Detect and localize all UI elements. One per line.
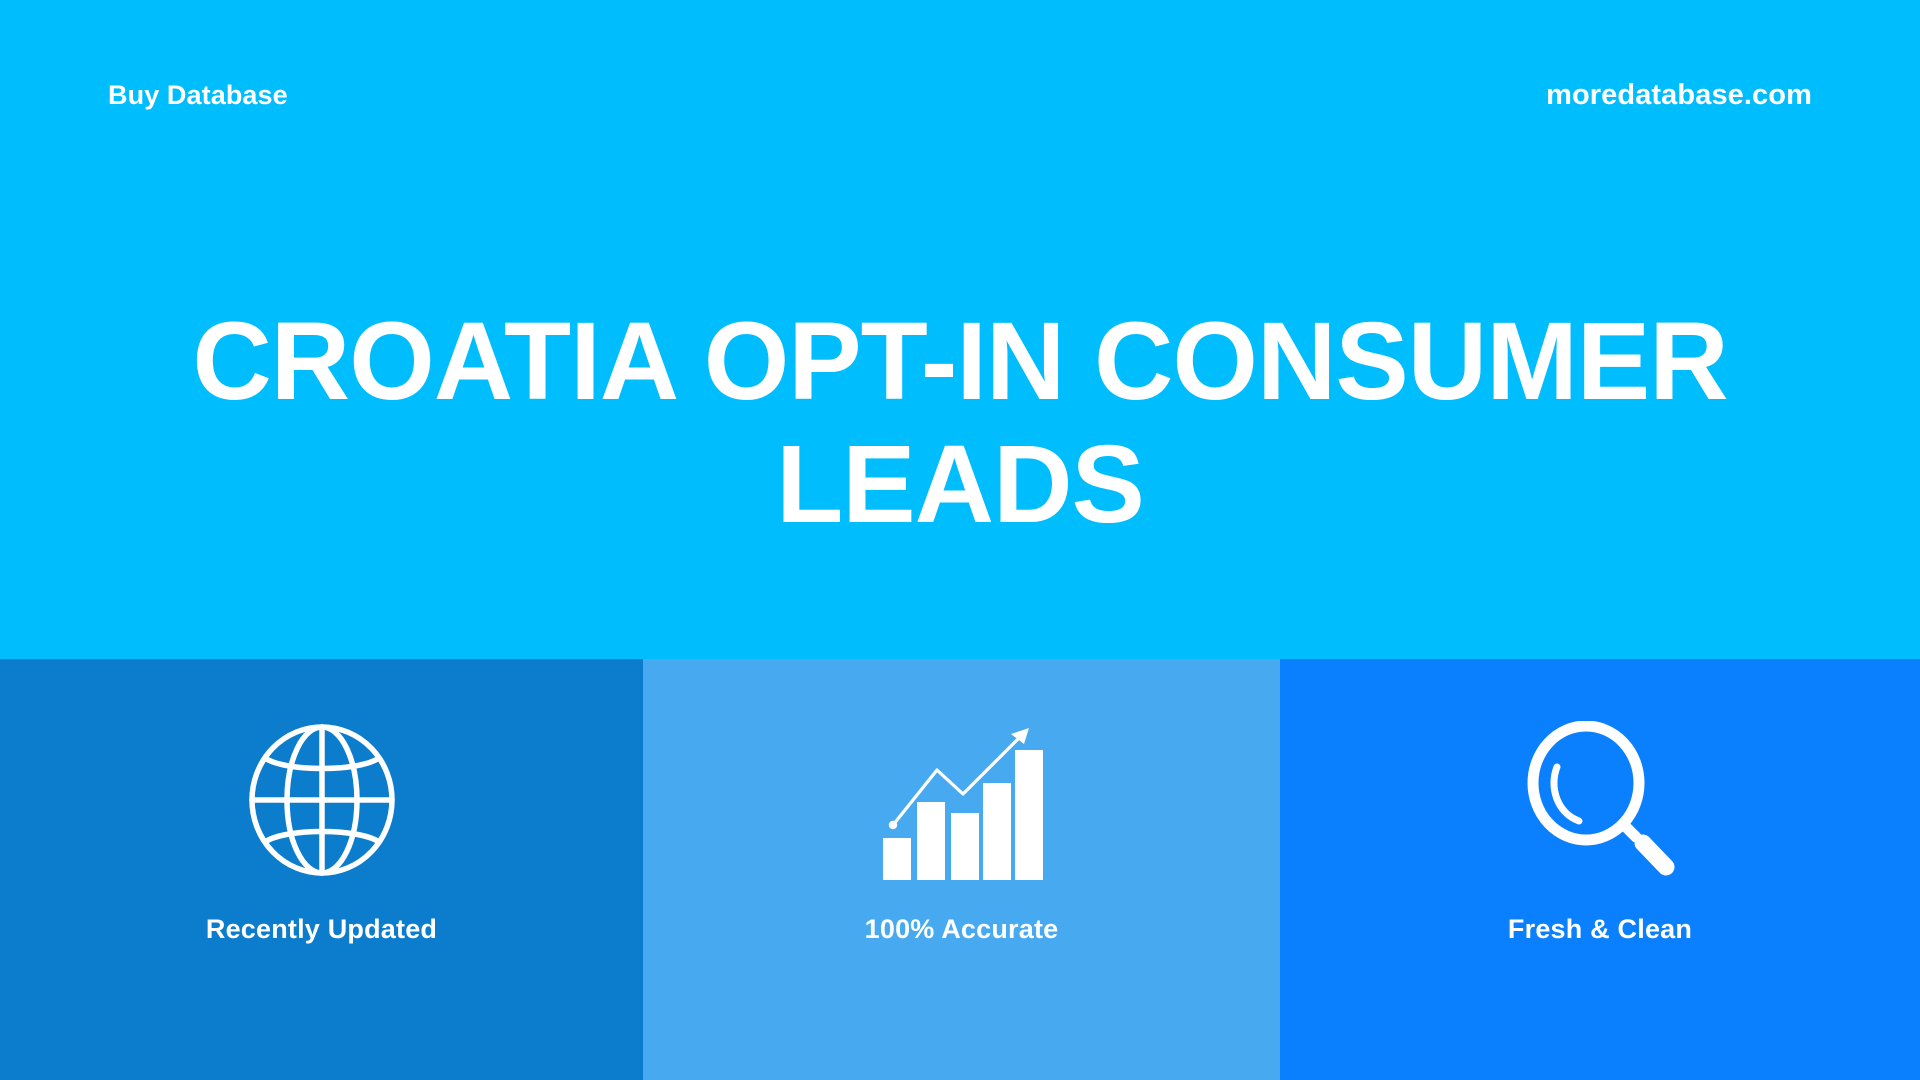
hero-title-container: CROATIA OPT-IN CONSUMER LEADS [0,300,1920,546]
hero-section: Buy Database moredatabase.com CROATIA OP… [0,0,1920,659]
feature-panels: Recently Updated 100% Acc [0,659,1920,1080]
website-url-label: moredatabase.com [1546,79,1812,112]
feature-label-accurate: 100% Accurate [865,914,1059,945]
feature-label-recently-updated: Recently Updated [206,914,437,945]
globe-icon [247,717,397,882]
feature-panel-accurate: 100% Accurate [643,659,1280,1080]
feature-label-fresh-clean: Fresh & Clean [1508,914,1692,945]
magnifying-glass-icon [1524,717,1676,882]
page-title: CROATIA OPT-IN CONSUMER LEADS [130,300,1790,546]
feature-panel-recently-updated: Recently Updated [0,659,643,1080]
feature-panel-fresh-clean: Fresh & Clean [1280,659,1920,1080]
growth-bar-chart-icon [879,717,1045,882]
promo-banner: Buy Database moredatabase.com CROATIA OP… [0,0,1920,1080]
brand-label: Buy Database [108,80,288,111]
banner-header: Buy Database moredatabase.com [0,0,1920,190]
